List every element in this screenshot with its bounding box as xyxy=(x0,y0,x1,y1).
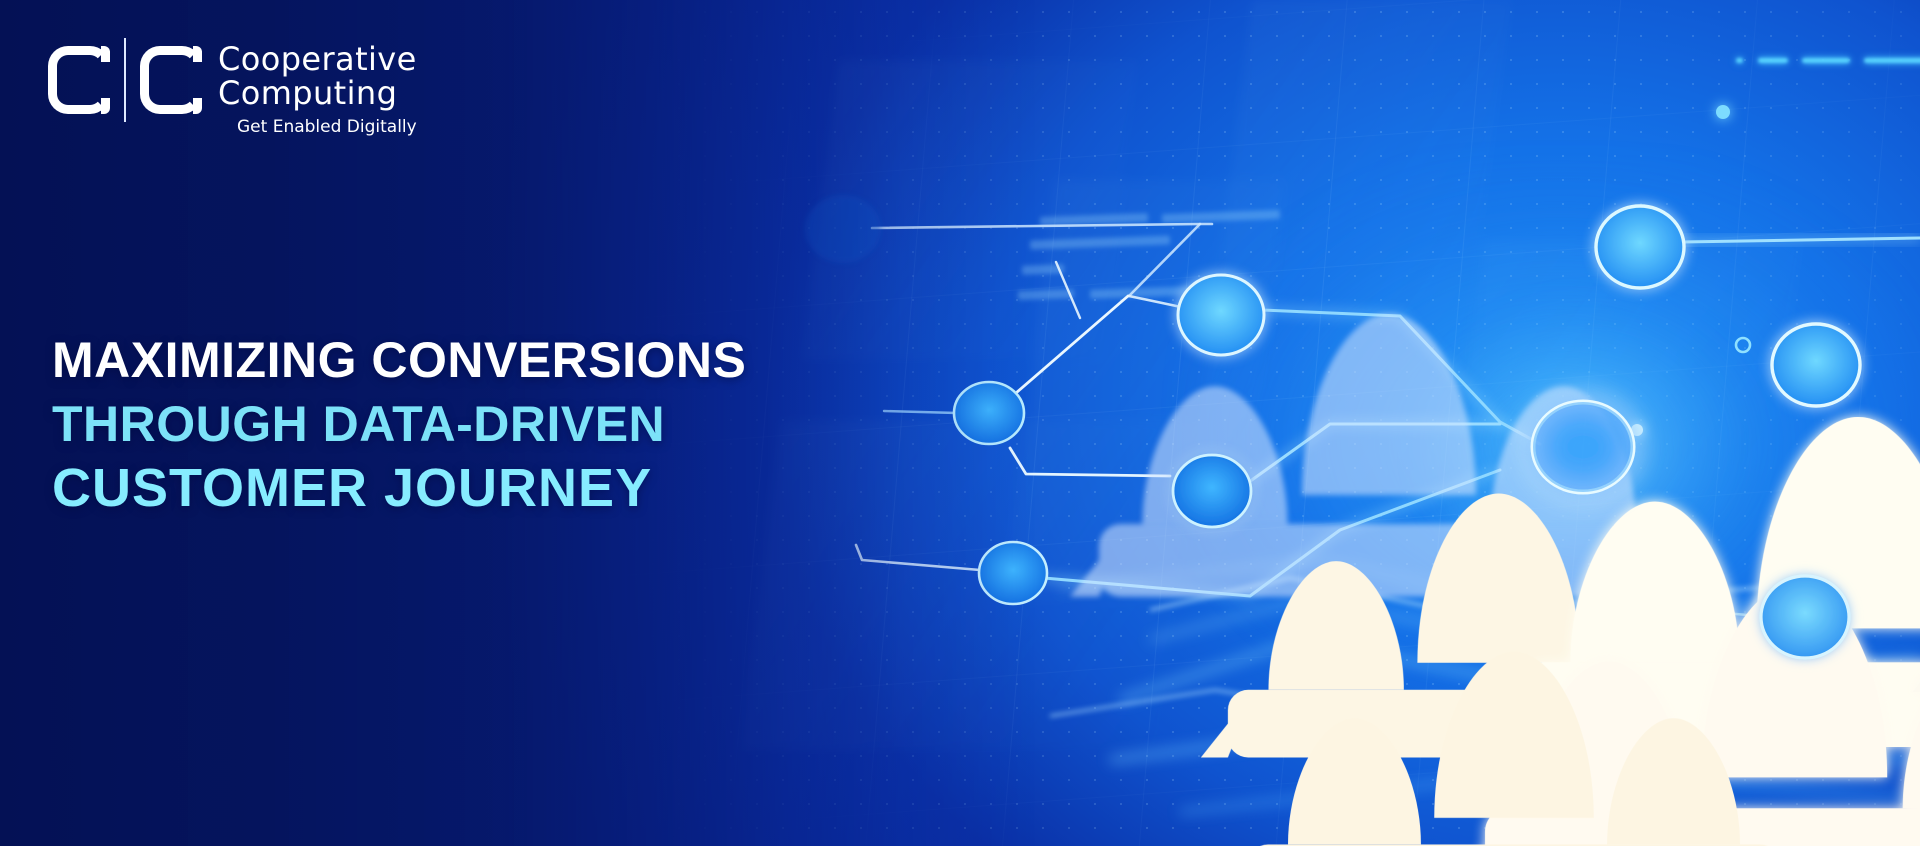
logo-tagline: Get Enabled Digitally xyxy=(218,116,417,138)
logo-letter-c-right xyxy=(140,46,202,114)
logo-letter-c-left xyxy=(48,46,110,114)
company-logo[interactable]: Cooperative Computing Get Enabled Digita… xyxy=(48,38,417,138)
hero-banner: Cooperative Computing Get Enabled Digita… xyxy=(0,0,1920,846)
logo-divider xyxy=(124,38,126,122)
cc-monogram-icon xyxy=(48,38,202,122)
logo-name-line-2: Computing xyxy=(218,76,417,110)
headline-line-1: MAXIMIZING CONVERSIONS xyxy=(52,328,746,392)
headline-line-3: CUSTOMER JOURNEY xyxy=(52,456,746,520)
headline-block: MAXIMIZING CONVERSIONS THROUGH DATA-DRIV… xyxy=(52,328,746,520)
headline-line-2: THROUGH DATA-DRIVEN xyxy=(52,392,746,456)
logo-name-line-1: Cooperative xyxy=(218,42,417,76)
